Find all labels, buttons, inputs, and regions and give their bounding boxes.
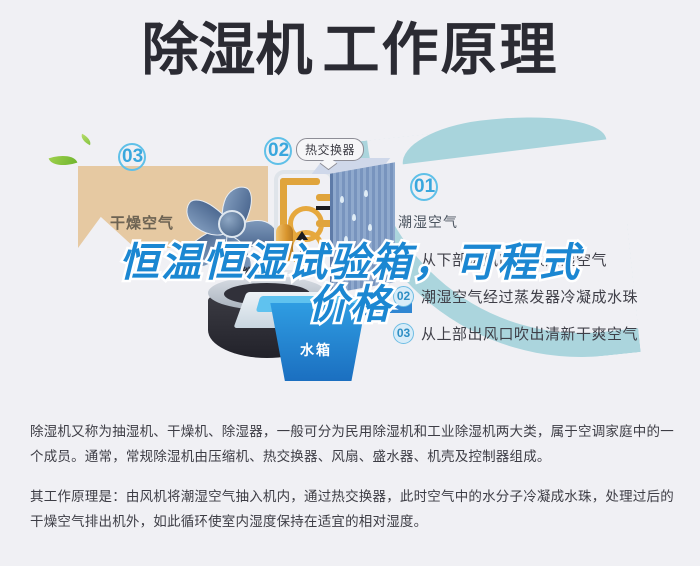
compressor-label: 压缩机 (230, 264, 266, 280)
diagram-badge-01: 01 (414, 176, 435, 198)
legend-badge: 03 (393, 323, 414, 344)
paragraph-2: 其工作原理是：由风机将潮湿空气抽入机内，通过热交换器，此时空气中的水分子冷凝成水… (30, 485, 676, 534)
body-copy: 除湿机又称为抽湿机、干燥机、除湿器，一般可分为民用除湿机和工业除湿机两大类，属于… (30, 420, 676, 550)
paragraph-1: 除湿机又称为抽湿机、干燥机、除湿器，一般可分为民用除湿机和工业除湿机两大类，属于… (30, 420, 676, 469)
diagram-badge-03: 03 (122, 146, 143, 168)
water-tank-label: 水箱 (300, 340, 332, 360)
water-droplet-icon (364, 190, 368, 197)
legend-badge: 01 (393, 249, 414, 270)
dry-air-label: 干燥空气 (110, 212, 174, 233)
list-item: 03 从上部出风口吹出清新干爽空气 (393, 322, 693, 344)
water-droplet-icon (356, 254, 360, 261)
leaf-icon (49, 150, 78, 170)
water-droplet-icon (352, 214, 356, 221)
list-item: 02 潮湿空气经过蒸发器冷凝成水珠 (393, 285, 693, 307)
receiver-cylinder (276, 224, 293, 262)
humid-air-label: 潮湿空气 (398, 212, 458, 232)
legend-text: 从下部进风口吸入潮湿空气 (421, 249, 607, 270)
heat-exchanger-callout: 热交换器 (296, 138, 364, 161)
pipe-segment (280, 178, 320, 185)
page-title: 除湿机工作原理 (0, 22, 700, 79)
water-droplet-icon (344, 236, 348, 243)
legend-badge: 02 (393, 286, 414, 307)
steps-legend: 01 从下部进风口吸入潮湿空气 02 潮湿空气经过蒸发器冷凝成水珠 03 从上部… (393, 248, 693, 359)
legend-text: 潮湿空气经过蒸发器冷凝成水珠 (421, 286, 638, 307)
list-item: 01 从下部进风口吸入潮湿空气 (393, 248, 693, 270)
flow-arrow-icon (300, 240, 304, 257)
legend-text: 从上部出风口吹出清新干爽空气 (421, 323, 638, 344)
title-text: 除湿机工作原理 (0, 22, 700, 79)
title-part-b: 工作原理 (323, 18, 559, 82)
title-part-a: 除湿机 (142, 18, 313, 82)
leaf-icon (79, 134, 93, 145)
water-droplet-icon (340, 196, 344, 203)
fan-hub (218, 210, 246, 238)
water-droplet-icon (368, 224, 372, 231)
diagram-badge-02: 02 (268, 140, 289, 162)
infographic-page: 除湿机工作原理 干燥空气 (0, 0, 700, 566)
